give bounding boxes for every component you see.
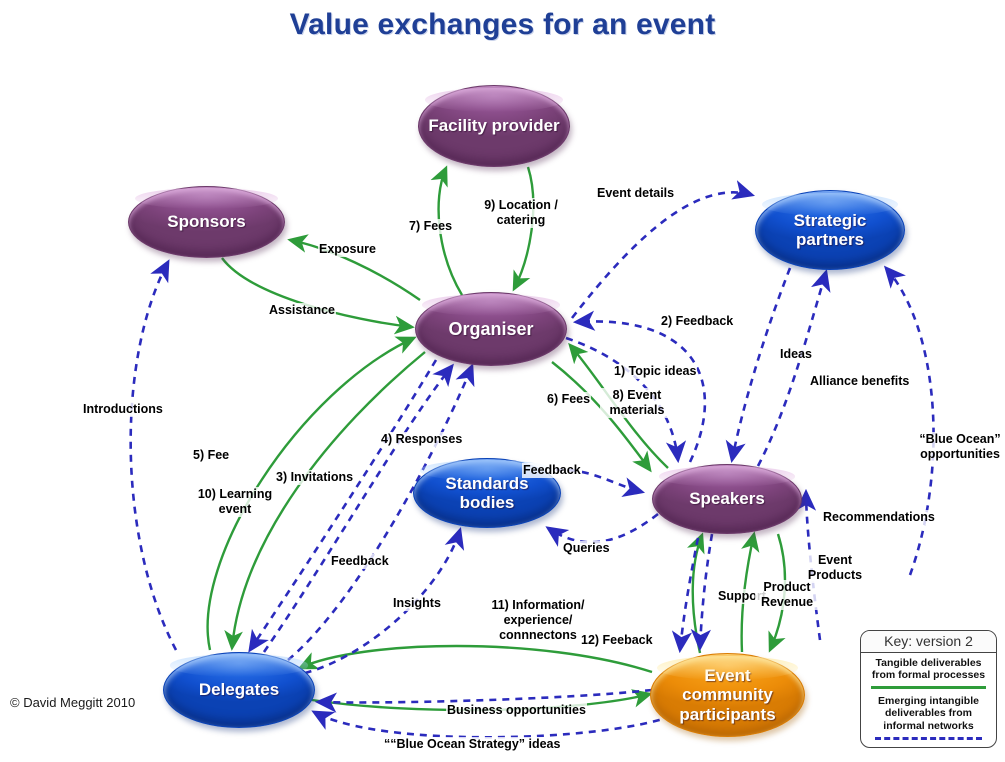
edge-label-business-opportunities: Business opportunities bbox=[446, 703, 587, 718]
edge-label-topic-ideas-1: 1) Topic ideas bbox=[613, 364, 697, 379]
node-strategic-partners[interactable]: Strategic partners bbox=[755, 190, 905, 270]
edge-label-alliance-benefits: Alliance benefits bbox=[809, 374, 910, 389]
edge-label-fees-7: 7) Fees bbox=[408, 219, 453, 234]
node-speakers[interactable]: Speakers bbox=[652, 464, 802, 534]
node-label: Speakers bbox=[683, 489, 771, 508]
node-delegates[interactable]: Delegates bbox=[163, 652, 315, 728]
node-label: Standards bodies bbox=[414, 474, 560, 512]
edge-label-learning-event-10: 10) Learning event bbox=[196, 487, 274, 517]
edge-label-product-revenue: Product Revenue bbox=[755, 580, 819, 610]
legend-intangible-label: Emerging intangible deliverables from in… bbox=[865, 695, 992, 732]
edge-label-responses-4: 4) Responses bbox=[380, 432, 463, 447]
edge-label-queries: Queries bbox=[562, 541, 611, 556]
edge-label-ideas: Ideas bbox=[779, 347, 813, 362]
edge-label-introductions: Introductions bbox=[82, 402, 164, 417]
node-label: Facility provider bbox=[422, 116, 565, 135]
node-label: Strategic partners bbox=[756, 211, 904, 249]
edge-label-blue-ocean-opportunities: “Blue Ocean” opportunities bbox=[917, 432, 1003, 462]
edge-label-event-products: Event Products bbox=[805, 553, 865, 583]
copyright-notice: © David Meggitt 2010 bbox=[10, 695, 135, 710]
edge-label-location-catering-9: 9) Location / catering bbox=[477, 198, 565, 228]
node-organiser[interactable]: Organiser bbox=[415, 292, 567, 366]
edge-label-event-details: Event details bbox=[596, 186, 675, 201]
diagram-canvas: Value exchanges for an event bbox=[0, 0, 1005, 762]
legend-tangible-label: Tangible deliverables from formal proces… bbox=[865, 657, 992, 682]
node-label: Event community participants bbox=[651, 666, 804, 723]
edge-label-exposure: Exposure bbox=[318, 242, 377, 257]
node-label: Delegates bbox=[193, 680, 285, 699]
edge-label-fee-5: 5) Fee bbox=[192, 448, 230, 463]
node-label: Sponsors bbox=[161, 212, 251, 231]
edge-label-insights: Insights bbox=[392, 596, 442, 611]
node-sponsors[interactable]: Sponsors bbox=[128, 186, 285, 258]
node-event-community-participants[interactable]: Event community participants bbox=[650, 653, 805, 737]
edge-label-feedback-delegates: Feedback bbox=[330, 554, 390, 569]
edge-label-event-materials-8: 8) Event materials bbox=[600, 388, 674, 418]
edge-label-recommendations: Recommendations bbox=[822, 510, 936, 525]
legend-key: Key: version 2 Tangible deliverables fro… bbox=[860, 630, 997, 748]
edge-label-feeback-12: 12) Feeback bbox=[580, 633, 654, 648]
node-facility-provider[interactable]: Facility provider bbox=[418, 85, 570, 167]
legend-intangible-line-swatch bbox=[875, 737, 982, 740]
edge-label-feedback-2: 2) Feedback bbox=[660, 314, 734, 329]
edge-label-information-11: 11) Information/ experience/ connnectons bbox=[482, 598, 594, 642]
legend-tangible-line-swatch bbox=[871, 686, 986, 689]
legend-body: Tangible deliverables from formal proces… bbox=[861, 653, 996, 747]
edge-label-invitations-3: 3) Invitations bbox=[275, 470, 354, 485]
edge-label-fees-6: 6) Fees bbox=[546, 392, 591, 407]
edge-label-assistance: Assistance bbox=[268, 303, 336, 318]
edge-label-feedback-speakers: Feedback bbox=[522, 463, 582, 478]
node-label: Organiser bbox=[442, 319, 539, 339]
legend-title: Key: version 2 bbox=[861, 631, 996, 653]
edge-label-blue-ocean-strategy-ideas: ““Blue Ocean Strategy” ideas bbox=[383, 737, 561, 752]
